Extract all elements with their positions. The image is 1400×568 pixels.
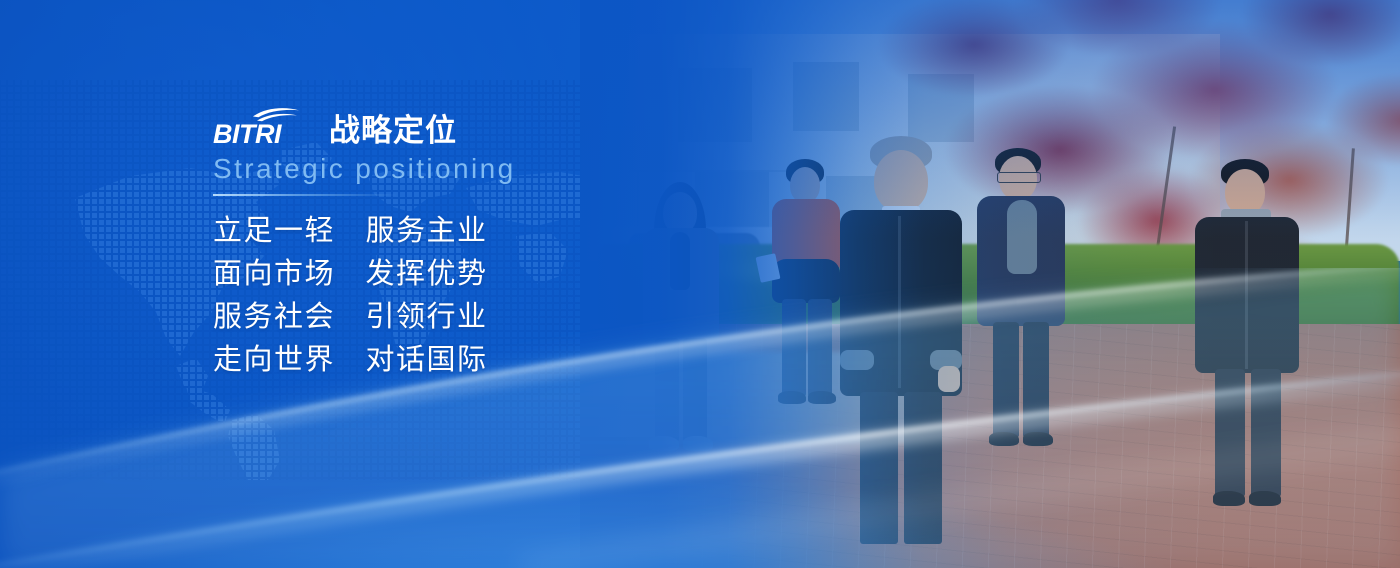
bitri-logo: BITRI — [213, 104, 317, 148]
slogan-line: 面向市场 发挥优势 — [213, 253, 633, 296]
brand-title-cn: 战略定位 — [329, 115, 457, 148]
title-separator — [213, 194, 398, 196]
slogan-line: 立足一轻 服务主业 — [213, 210, 633, 253]
svg-text:BITRI: BITRI — [213, 119, 282, 148]
banner-content: BITRI 战略定位 Strategic positioning 立足一轻 服务… — [213, 104, 633, 382]
brand-row: BITRI 战略定位 — [213, 104, 633, 148]
slogan-line: 走向世界 对话国际 — [213, 339, 633, 382]
slogan-list: 立足一轻 服务主业 面向市场 发挥优势 服务社会 引领行业 走向世界 对话国际 — [213, 210, 633, 382]
strategic-positioning-banner: BITRI 战略定位 Strategic positioning 立足一轻 服务… — [0, 0, 1400, 568]
photo-top-fade — [580, 0, 1400, 239]
brand-subtitle-en: Strategic positioning — [213, 154, 633, 185]
slogan-line: 服务社会 引领行业 — [213, 296, 633, 339]
photo-people-walking — [580, 0, 1400, 568]
